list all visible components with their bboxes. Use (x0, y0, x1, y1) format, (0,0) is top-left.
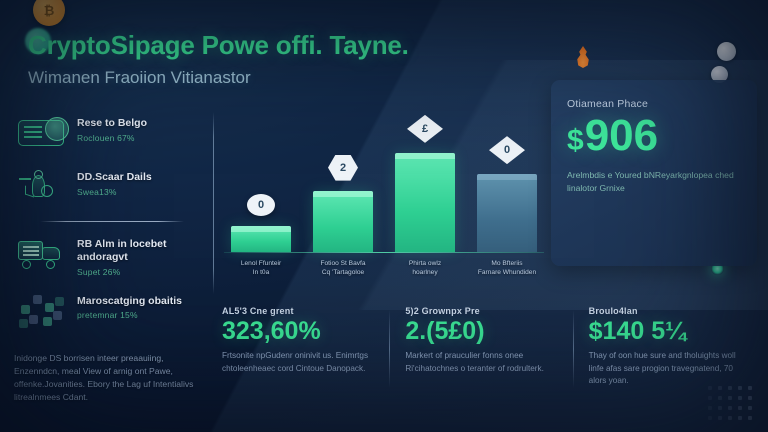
kpi-currency: $ (567, 126, 584, 156)
feature-metric: pretemnar 15% (77, 310, 182, 320)
bitcoin-glyph: ₿ (33, 0, 65, 26)
chart-bar-group[interactable]: £ (392, 120, 458, 252)
dot-grid-icon (708, 386, 754, 422)
kpi-description: Arelmbdis e Youred bNReyarkgnlopea ched … (567, 169, 741, 196)
chart-bar[interactable] (477, 174, 537, 252)
stat-description: Thay of oon hue sure and tholuights woll… (589, 350, 740, 387)
chart-baseline (224, 252, 544, 254)
coin-silver-icon (717, 42, 736, 61)
chart-category-label: Mo BfteriisFarnare Whundiden (474, 259, 540, 278)
coin-orange-icon: ₿ (33, 0, 65, 26)
grid-dot (718, 396, 722, 400)
truck-icon (14, 234, 68, 274)
grid-dot (708, 406, 712, 410)
server-icon (14, 113, 68, 153)
grid-dot (748, 416, 752, 420)
list-item[interactable]: RB Alm in locebet andoragvt Supet 26% (14, 234, 210, 277)
grid-dot (718, 386, 722, 390)
grid-dot (738, 396, 742, 400)
rocket-icon (14, 167, 68, 207)
divider (40, 221, 184, 222)
grid-dot (738, 386, 742, 390)
stat-description: Frtsonite npGudenr oninivit us. Enimrtgs… (222, 350, 373, 375)
stat-card[interactable]: Broulo4lan $140 5¼ Thay of oon hue sure … (573, 306, 756, 388)
grid-dot (738, 406, 742, 410)
stat-label: Broulo4lan (589, 306, 740, 316)
grid-dot (708, 386, 712, 390)
feature-title: Rese to Belgo (77, 117, 147, 130)
column-divider (213, 112, 214, 294)
grid-dot (748, 406, 752, 410)
chart-bars: 02£0 (228, 120, 540, 252)
header: CryptoSipage Powe offi. Tayne. Wimanen F… (28, 30, 548, 88)
page-subtitle: Wimanen Fraoiion Vitianastor (28, 68, 548, 88)
chart-category-label: Phirta owlzhoarlney (392, 259, 458, 278)
bar-badge: 0 (489, 136, 525, 164)
stat-value: 2.(5£0) (405, 318, 556, 344)
grid-dot (728, 416, 732, 420)
stat-description: Markert of prauculier fonns onee Ri'ciha… (405, 350, 556, 375)
chart-bar-group[interactable]: 2 (310, 120, 376, 252)
list-item[interactable]: DD.Scaar Dails Swea13% (14, 167, 210, 207)
grid-dot (748, 386, 752, 390)
grid-dot (728, 406, 732, 410)
page-title: CryptoSipage Powe offi. Tayne. (28, 30, 548, 61)
kpi-value: $ 906 (567, 114, 741, 158)
list-item[interactable]: Rese to Belgo Roclouen 67% (14, 113, 210, 153)
grid-dot (718, 406, 722, 410)
chart-bar-group[interactable]: 0 (474, 120, 540, 252)
chart-category-label: Fotioo St BavfaCq 'Tartagoloe (310, 259, 376, 278)
grid-dot (708, 416, 712, 420)
stat-card[interactable]: AL5'3 Cne grent 323,60% Frtsonite npGude… (222, 306, 389, 388)
chart-bar[interactable] (231, 226, 291, 252)
lead-paragraph: Inidonge DS borrisen inteer preaauiing, … (14, 352, 210, 404)
chart-bar[interactable] (313, 191, 373, 252)
chart-bar-group[interactable]: 0 (228, 120, 294, 252)
bar-chart: 02£0 Lenol FfunteirIn t0aFotioo St Bavfa… (228, 120, 540, 270)
feature-title: RB Alm in locebet andoragvt (77, 238, 210, 264)
grid-dot (738, 416, 742, 420)
bar-badge: 0 (247, 194, 275, 216)
feature-metric: Swea13% (77, 187, 152, 197)
network-icon (14, 291, 68, 331)
kpi-label: Otiamean Phace (567, 98, 741, 110)
grid-dot (708, 396, 712, 400)
bar-badge: 2 (328, 155, 358, 181)
kpi-card[interactable]: Otiamean Phace $ 906 Arelmbdis e Youred … (551, 80, 757, 266)
stat-value: 323,60% (222, 318, 373, 344)
bar-badge: £ (407, 115, 443, 143)
feature-title: Maroscatging obaitis (77, 295, 182, 308)
stats-row: AL5'3 Cne grent 323,60% Frtsonite npGude… (222, 306, 756, 388)
grid-dot (728, 396, 732, 400)
stat-label: 5)2 Grownpx Pre (405, 306, 556, 316)
grid-dot (748, 396, 752, 400)
kpi-number: 906 (585, 114, 658, 158)
stat-value: $140 5¼ (589, 318, 740, 344)
grid-dot (718, 416, 722, 420)
list-item[interactable]: Maroscatging obaitis pretemnar 15% (14, 291, 210, 331)
feature-list: Rese to Belgo Roclouen 67% DD.Scaar Dail… (14, 113, 210, 345)
feature-metric: Supet 26% (77, 267, 210, 277)
feature-metric: Roclouen 67% (77, 133, 147, 143)
feature-title: DD.Scaar Dails (77, 171, 152, 184)
chart-category-label: Lenol FfunteirIn t0a (228, 259, 294, 278)
chart-bar[interactable] (395, 153, 455, 252)
stat-label: AL5'3 Cne grent (222, 306, 373, 316)
stat-card[interactable]: 5)2 Grownpx Pre 2.(5£0) Markert of prauc… (389, 306, 572, 388)
chart-category-labels: Lenol FfunteirIn t0aFotioo St BavfaCq 'T… (228, 259, 540, 278)
grid-dot (728, 386, 732, 390)
